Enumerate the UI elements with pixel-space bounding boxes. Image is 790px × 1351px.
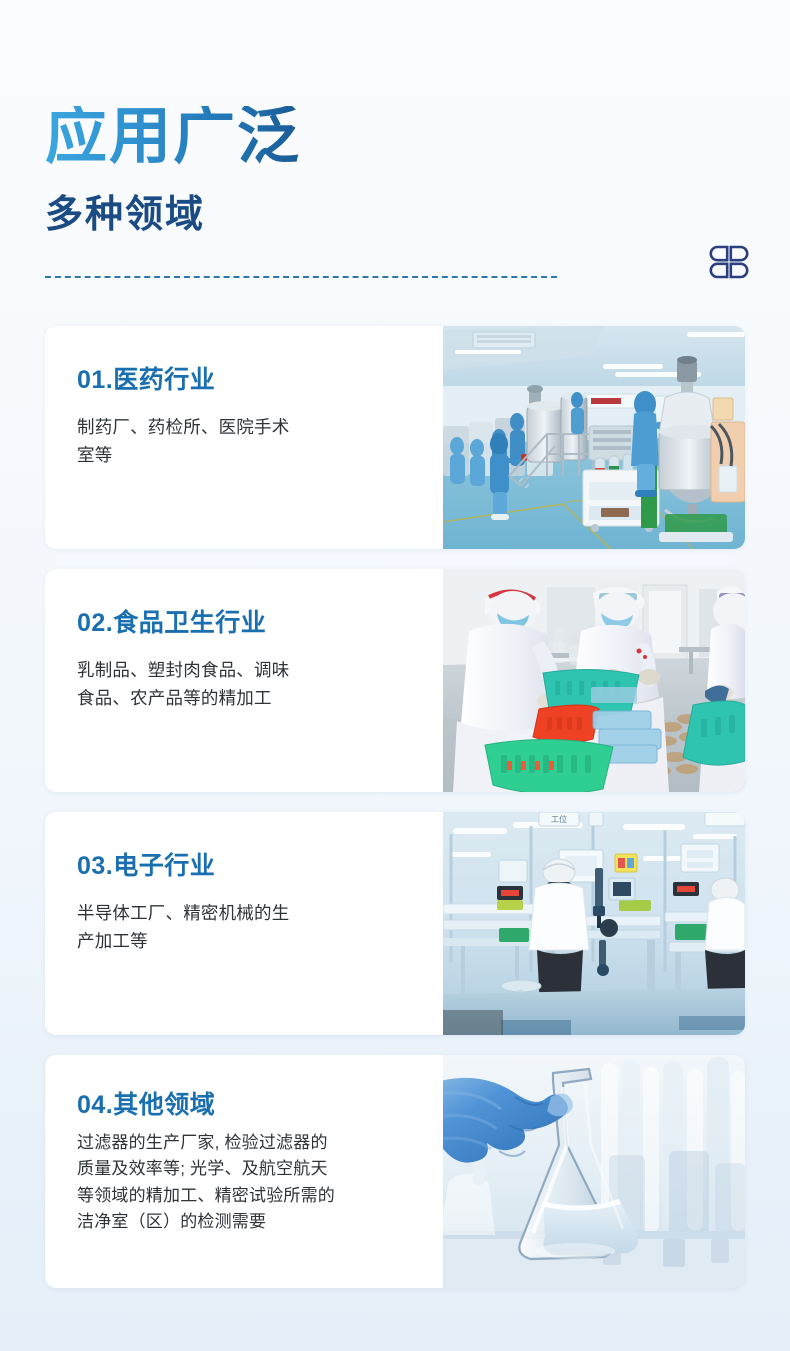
card-description: 制药厂、药检所、医院手术 室等 <box>77 413 413 470</box>
card-text-block: 01.医药行业 制药厂、药检所、医院手术 室等 <box>45 326 443 549</box>
svg-text:工位: 工位 <box>551 814 567 824</box>
card-description-line: 乳制品、塑封肉食品、调味 <box>77 656 413 684</box>
four-petal-clover-icon <box>708 240 750 282</box>
application-card-food[interactable]: 02.食品卫生行业 乳制品、塑封肉食品、调味 食品、农产品等的精加工 <box>45 569 745 792</box>
card-description-line: 制药厂、药检所、医院手术 <box>77 413 413 441</box>
application-card-pharmaceutical[interactable]: 01.医药行业 制药厂、药检所、医院手术 室等 <box>45 326 745 549</box>
page-title: 应用广泛 <box>45 106 301 168</box>
card-text-block: 02.食品卫生行业 乳制品、塑封肉食品、调味 食品、农产品等的精加工 <box>45 569 443 792</box>
card-title: 02.食品卫生行业 <box>77 609 413 638</box>
electronics-cleanroom-photo: 工位 <box>443 812 745 1035</box>
header-dashed-divider <box>45 276 557 278</box>
card-description-line: 室等 <box>77 441 413 469</box>
food-processing-photo <box>443 569 745 792</box>
card-description: 半导体工厂、精密机械的生 产加工等 <box>77 899 413 956</box>
card-title: 01.医药行业 <box>77 366 413 395</box>
pharmaceutical-factory-photo <box>443 326 745 549</box>
card-description-line: 等领域的精加工、精密试验所需的 <box>77 1183 413 1210</box>
card-title: 04.其他领域 <box>77 1091 413 1120</box>
card-title: 03.电子行业 <box>77 852 413 881</box>
card-description-line: 过滤器的生产厂家, 检验过滤器的 <box>77 1130 413 1157</box>
card-description-line: 产加工等 <box>77 927 413 955</box>
card-description: 过滤器的生产厂家, 检验过滤器的 质量及效率等; 光学、及航空航天 等领域的精加… <box>77 1130 413 1236</box>
application-card-other[interactable]: 04.其他领域 过滤器的生产厂家, 检验过滤器的 质量及效率等; 光学、及航空航… <box>45 1055 745 1288</box>
page-header: 应用广泛 多种领域 <box>0 0 790 300</box>
card-description-line: 质量及效率等; 光学、及航空航天 <box>77 1156 413 1183</box>
card-description-line: 洁净室（区）的检测需要 <box>77 1209 413 1236</box>
card-description-line: 半导体工厂、精密机械的生 <box>77 899 413 927</box>
card-description: 乳制品、塑封肉食品、调味 食品、农产品等的精加工 <box>77 656 413 713</box>
application-cards-list: 01.医药行业 制药厂、药检所、医院手术 室等 <box>45 326 745 1308</box>
card-text-block: 04.其他领域 过滤器的生产厂家, 检验过滤器的 质量及效率等; 光学、及航空航… <box>45 1055 443 1288</box>
application-card-electronics[interactable]: 03.电子行业 半导体工厂、精密机械的生 产加工等 <box>45 812 745 1035</box>
card-text-block: 03.电子行业 半导体工厂、精密机械的生 产加工等 <box>45 812 443 1035</box>
page-subtitle: 多种领域 <box>45 196 205 234</box>
card-description-line: 食品、农产品等的精加工 <box>77 684 413 712</box>
laboratory-flask-photo <box>443 1055 745 1288</box>
